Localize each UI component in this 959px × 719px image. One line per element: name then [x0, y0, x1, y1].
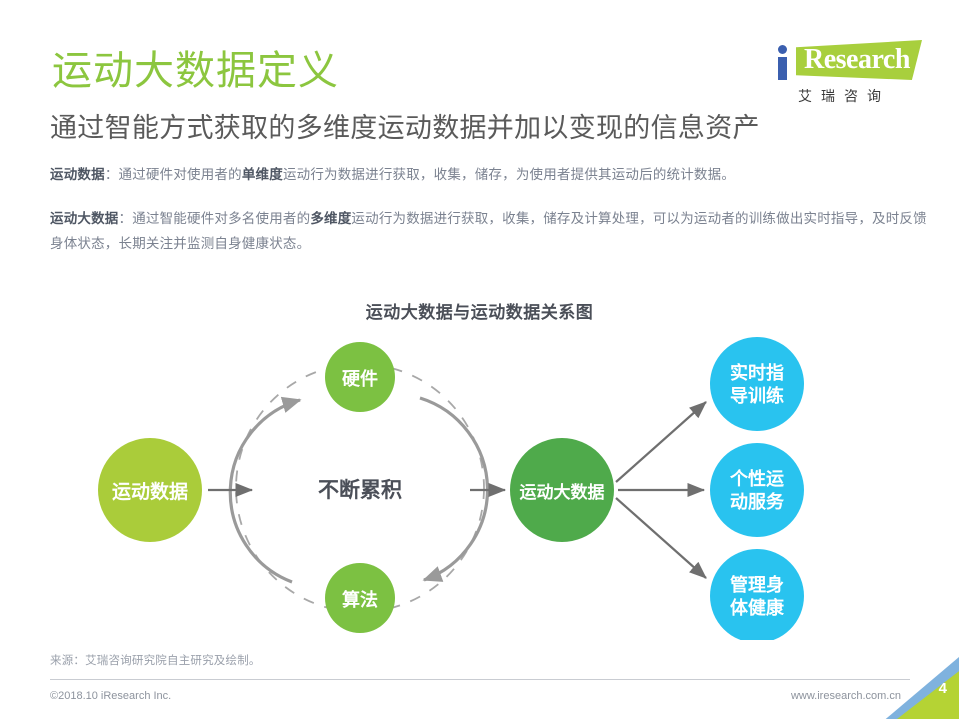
node-personalized-service-label-line1: 个性运	[729, 468, 784, 489]
node-realtime-guidance-label-line1: 实时指	[730, 362, 784, 383]
logo-i-dot-icon	[778, 45, 787, 54]
slide: Research 艾瑞咨询 运动大数据定义 通过智能方式获取的多维度运动数据并加…	[0, 0, 959, 719]
iresearch-logo: Research 艾瑞咨询	[772, 38, 922, 110]
copyright-text: ©2018.10 iResearch Inc.	[50, 690, 171, 702]
paragraph-2-emphasis: 多维度	[310, 211, 351, 226]
paragraph-1-emphasis: 单维度	[242, 167, 283, 182]
node-hardware-label: 硬件	[342, 368, 378, 389]
definition-paragraph-sports-data: 运动数据：通过硬件对使用者的单维度运动行为数据进行获取，收集，储存，为使用者提供…	[50, 163, 930, 188]
node-sports-big-data-label: 运动大数据	[520, 482, 605, 502]
page-subtitle: 通过智能方式获取的多维度运动数据并加以变现的信息资产	[50, 106, 760, 145]
page-number: 4	[939, 680, 947, 697]
node-health-management-label-line2: 体健康	[730, 597, 785, 618]
paragraph-1-lead: 运动数据	[50, 167, 105, 182]
node-personalized-service-label-line2: 动服务	[730, 491, 785, 512]
edge-bigdata-to-realtime-guidance	[616, 402, 706, 482]
logo-wordmark: Research	[804, 44, 910, 76]
paragraph-2-colon: ：	[119, 211, 133, 226]
page-title: 运动大数据定义	[52, 49, 339, 93]
logo-chinese-name: 艾瑞咨询	[798, 86, 890, 106]
edge-bigdata-to-health-management	[616, 498, 706, 578]
paragraph-1-text-a: 通过硬件对使用者的	[119, 167, 242, 182]
paragraph-2-text-a: 通过智能硬件对多名使用者的	[132, 211, 310, 226]
relationship-diagram: 运动数据 硬件 算法 不断累积 运动大数据 实时指 导训练 个性运 动服务 管理…	[0, 320, 959, 640]
node-personalized-service[interactable]	[710, 443, 804, 537]
node-realtime-guidance-label-line2: 导训练	[730, 385, 784, 406]
corner-decoration: 4	[881, 657, 959, 719]
logo-i-stem-icon	[778, 57, 787, 80]
node-realtime-guidance[interactable]	[710, 337, 804, 431]
logo-mark: Research	[772, 38, 922, 82]
paragraph-2-lead: 运动大数据	[50, 211, 119, 226]
definition-paragraph-sports-big-data: 运动大数据：通过智能硬件对多名使用者的多维度运动行为数据进行获取，收集，储存及计…	[50, 207, 930, 257]
node-algorithm-label: 算法	[342, 589, 378, 610]
paragraph-1-text-b: 运动行为数据进行获取，收集，储存，为使用者提供其运动后的统计数据。	[283, 167, 735, 182]
node-health-management-label-line1: 管理身	[730, 574, 784, 595]
node-sports-data-label: 运动数据	[112, 480, 188, 503]
cycle-center-label: 不断累积	[318, 478, 402, 502]
footer-divider	[50, 679, 910, 680]
source-note: 来源：艾瑞咨询研究院自主研究及绘制。	[50, 652, 261, 668]
paragraph-1-colon: ：	[105, 167, 119, 182]
